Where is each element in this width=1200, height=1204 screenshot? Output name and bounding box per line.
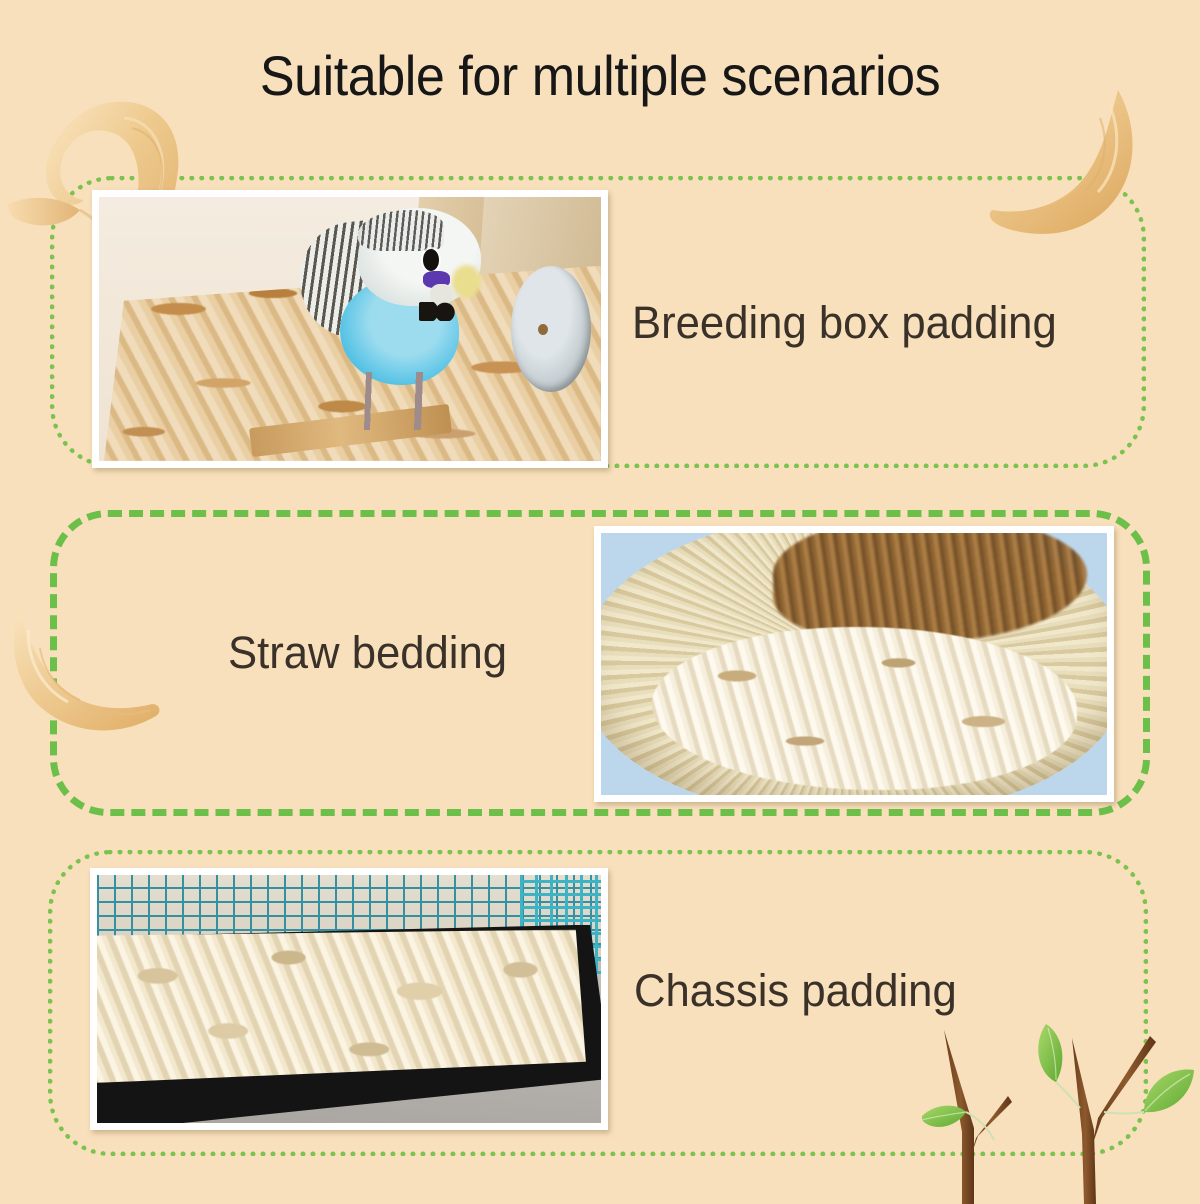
scenario-image-chassis-padding — [90, 868, 608, 1130]
budgerigar-illustration — [300, 208, 481, 414]
infographic-canvas: Suitable for multiple scenarios — [0, 0, 1200, 1200]
page-title: Suitable for multiple scenarios — [42, 48, 1158, 104]
scenario-label-straw-bedding: Straw bedding — [228, 630, 507, 675]
scenario-label-chassis-padding: Chassis padding — [634, 968, 957, 1013]
scenario-label-breeding-box: Breeding box padding — [632, 300, 1057, 345]
scenario-image-breeding-box — [92, 190, 608, 468]
scenario-image-straw-bedding — [594, 526, 1114, 802]
